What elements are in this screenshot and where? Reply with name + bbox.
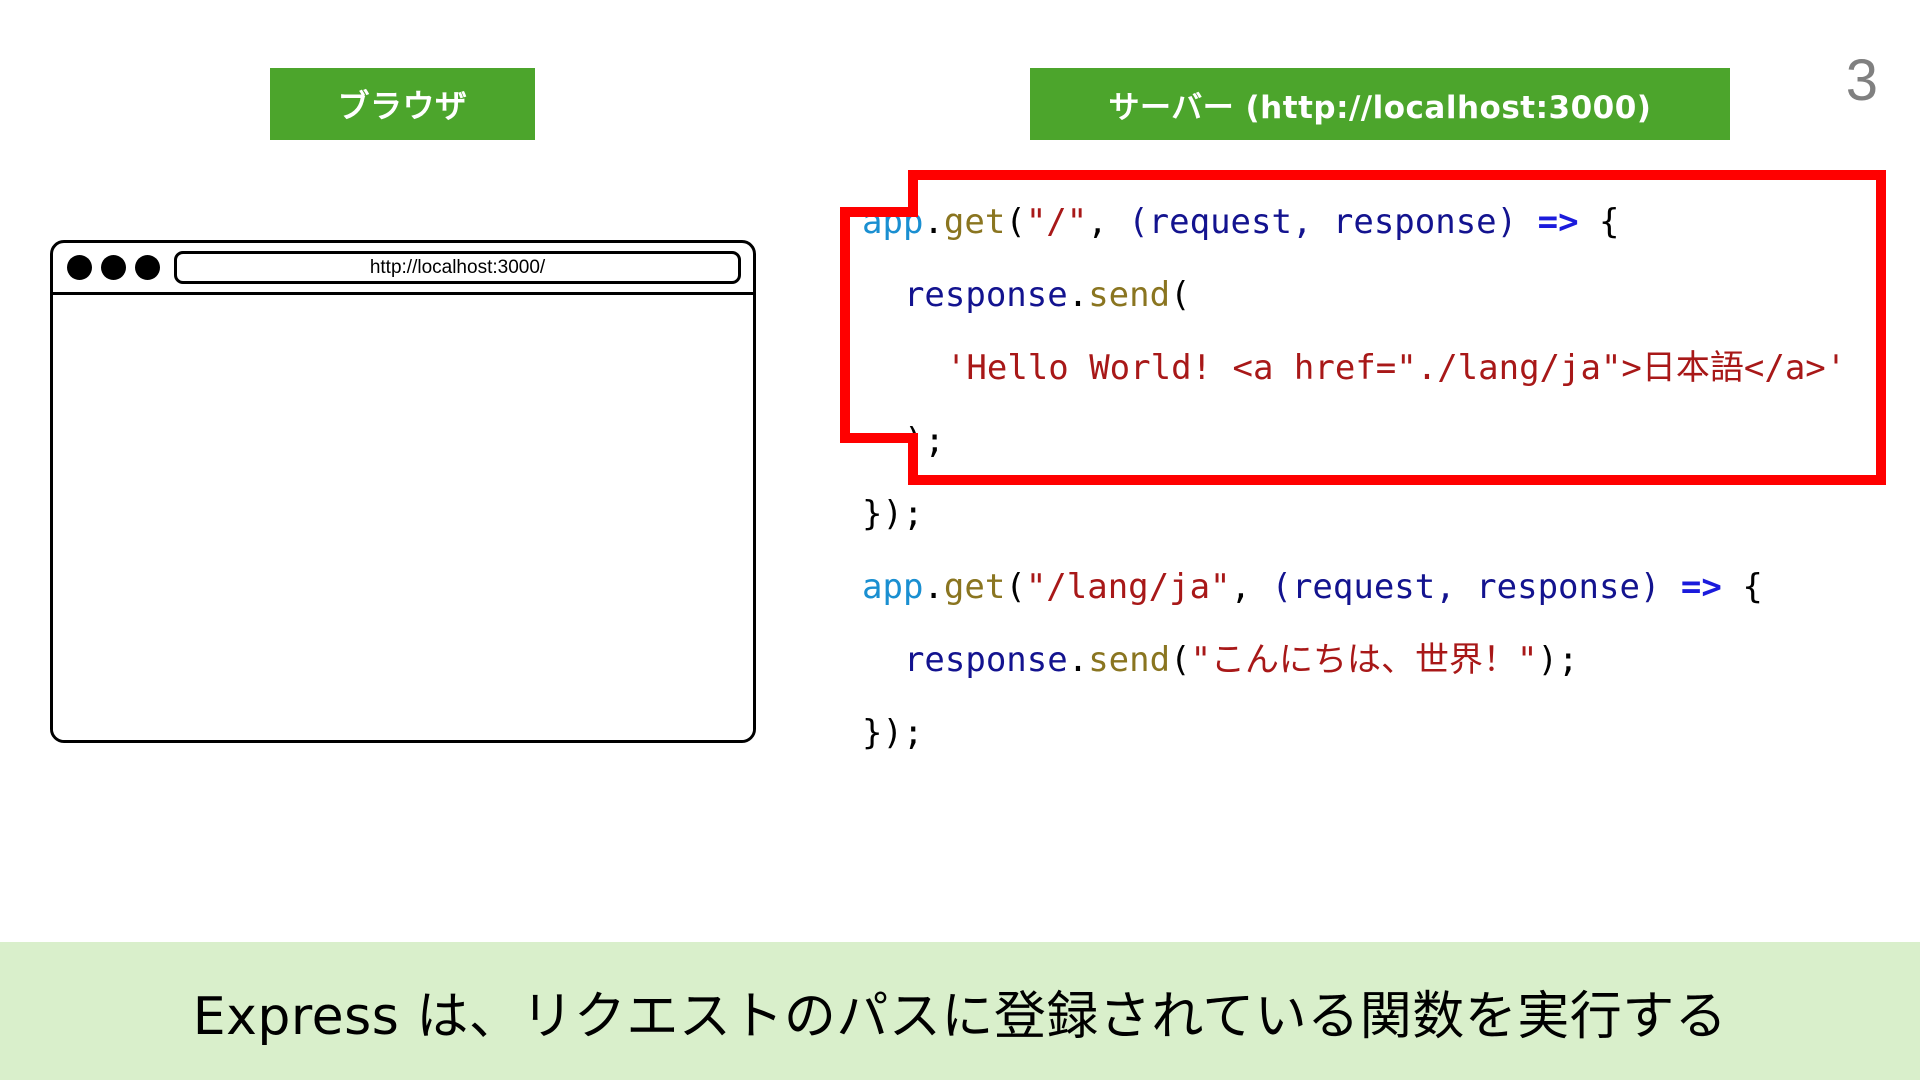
code-token-punct: . [923, 202, 943, 242]
code-token-punct [1517, 202, 1537, 242]
code-token-punct: ( [1005, 567, 1025, 607]
code-token-punct: . [1068, 640, 1088, 680]
code-token-arrow: => [1538, 202, 1579, 242]
code-token-string: 'Hello World! <a href="./lang/ja">日本語</a… [946, 348, 1846, 388]
browser-window-mockup: http://localhost:3000/ [50, 240, 756, 743]
window-dot-close-icon[interactable] [67, 255, 92, 280]
code-token-param: (request, response) [1128, 202, 1517, 242]
code-token-param: (request, response) [1271, 567, 1660, 607]
code-line-6: app.get("/lang/ja", (request, response) … [862, 551, 1846, 624]
browser-toolbar: http://localhost:3000/ [53, 243, 753, 295]
code-token-punct: ); [904, 421, 945, 461]
code-token-punct: }); [862, 494, 923, 534]
code-line-3: 'Hello World! <a href="./lang/ja">日本語</a… [862, 332, 1846, 405]
window-dot-minimize-icon[interactable] [101, 255, 126, 280]
window-control-dots [67, 255, 160, 280]
code-token-object: app [862, 202, 923, 242]
code-token-arrow: => [1681, 567, 1722, 607]
code-token-string: "/lang/ja" [1026, 567, 1231, 607]
caption-text: Express は、リクエストのパスに登録されている関数を実行する [193, 974, 1728, 1049]
caption-band: Express は、リクエストのパスに登録されている関数を実行する [0, 942, 1920, 1080]
code-line-7: response.send("こんにちは、世界！"); [862, 624, 1846, 697]
page-number: 3 [1846, 52, 1878, 110]
banner-browser: ブラウザ [270, 68, 535, 140]
code-token-punct: ( [1005, 202, 1025, 242]
browser-viewport [53, 295, 753, 743]
code-token-punct: ( [1170, 640, 1190, 680]
code-token-function: send [1088, 640, 1170, 680]
url-bar[interactable]: http://localhost:3000/ [174, 251, 741, 284]
code-line-8: }); [862, 697, 1846, 770]
banner-server: サーバー (http://localhost:3000) [1030, 68, 1730, 140]
url-text: http://localhost:3000/ [370, 257, 545, 279]
code-line-4: ); [862, 405, 1846, 478]
code-line-1: app.get("/", (request, response) => { [862, 186, 1846, 259]
code-token-function: get [944, 202, 1005, 242]
code-token-string: "/" [1026, 202, 1087, 242]
code-token-object: app [862, 567, 923, 607]
code-token-punct: , [1231, 567, 1272, 607]
banner-server-label: サーバー (http://localhost:3000) [1109, 82, 1652, 127]
code-line-2: response.send( [862, 259, 1846, 332]
code-line-5: }); [862, 478, 1846, 551]
code-token-param: response [904, 640, 1068, 680]
code-token-function: send [1088, 275, 1170, 315]
code-token-punct [1660, 567, 1680, 607]
server-code-listing: app.get("/", (request, response) => {res… [862, 186, 1846, 770]
code-token-punct: }); [862, 713, 923, 753]
code-token-punct: { [1579, 202, 1620, 242]
code-token-punct: ( [1170, 275, 1190, 315]
code-token-punct: . [923, 567, 943, 607]
code-token-punct: { [1722, 567, 1763, 607]
code-token-string: "こんにちは、世界！" [1191, 640, 1538, 680]
code-token-punct: ); [1538, 640, 1579, 680]
banner-browser-label: ブラウザ [337, 81, 467, 127]
code-token-punct: . [1068, 275, 1088, 315]
code-token-param: response [904, 275, 1068, 315]
window-dot-maximize-icon[interactable] [135, 255, 160, 280]
code-token-function: get [944, 567, 1005, 607]
code-token-punct: , [1087, 202, 1128, 242]
